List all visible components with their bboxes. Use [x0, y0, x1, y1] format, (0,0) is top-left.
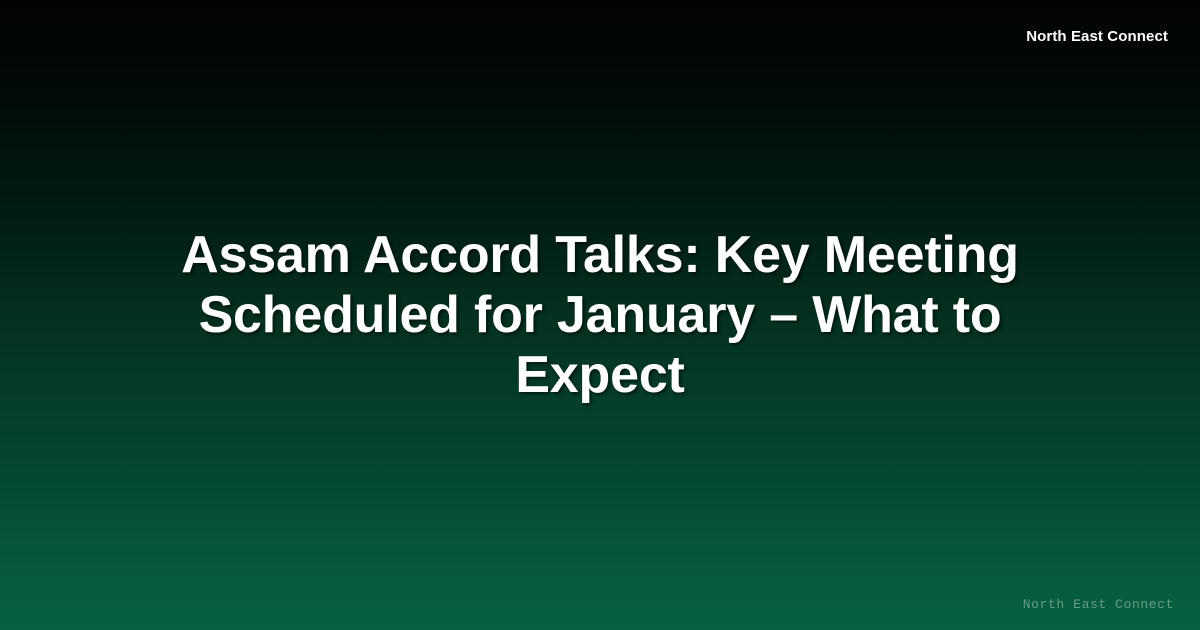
share-card: North East Connect Assam Accord Talks: K…: [0, 0, 1200, 630]
headline-container: Assam Accord Talks: Key Meeting Schedule…: [0, 0, 1200, 630]
watermark-label: North East Connect: [1023, 597, 1174, 613]
page-title: Assam Accord Talks: Key Meeting Schedule…: [170, 225, 1030, 405]
